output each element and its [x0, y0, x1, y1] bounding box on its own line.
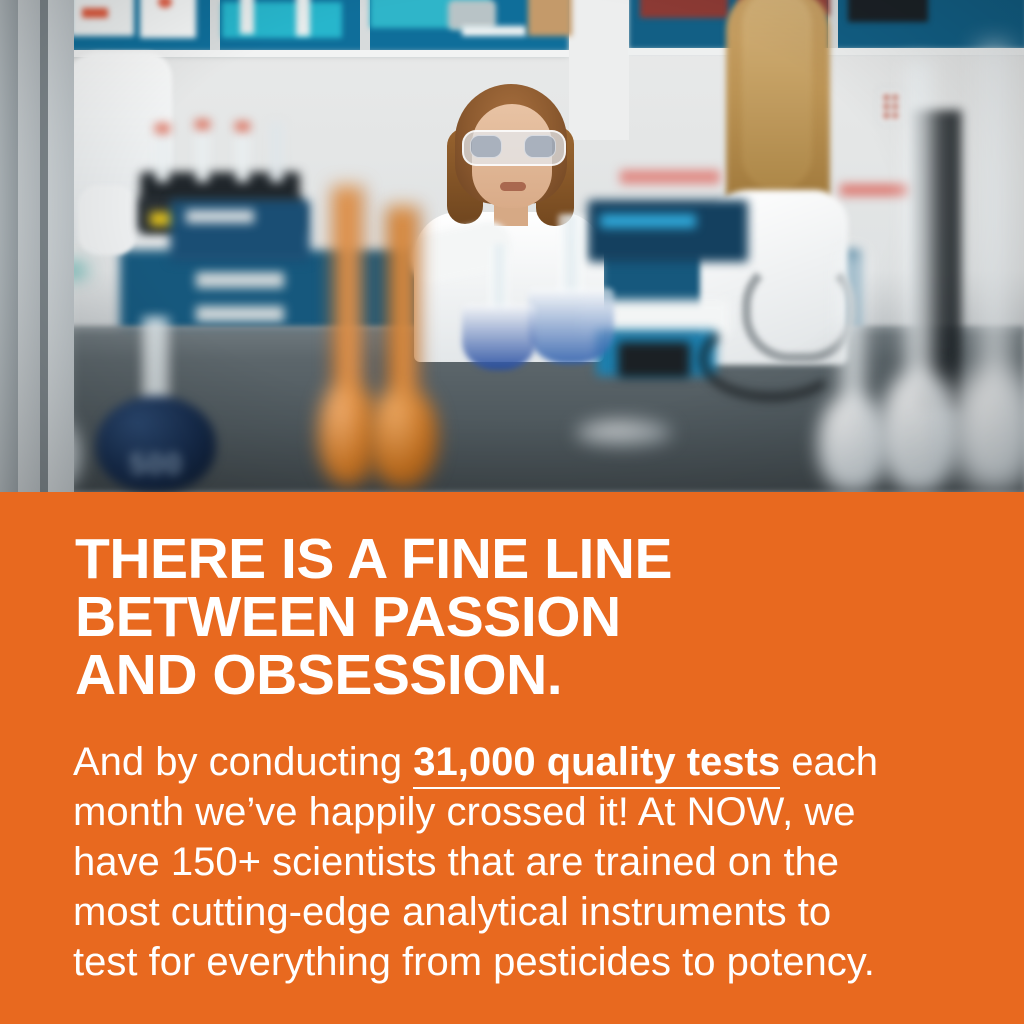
headline-line-3: AND OBSESSION.: [75, 646, 975, 704]
headline-line-1: THERE IS A FINE LINE: [75, 530, 975, 588]
quality-tests-emphasis: 31,000 quality tests: [413, 740, 780, 789]
body-copy: And by conducting 31,000 quality tests e…: [73, 737, 963, 987]
promotional-graphic: 500 THERE IS A FINE LINE BETWEEN PASSION…: [0, 0, 1024, 1024]
body-line-4: most cutting-edge analytical instruments…: [73, 887, 963, 937]
lab-photograph: 500: [0, 0, 1024, 492]
page-title: THERE IS A FINE LINE BETWEEN PASSION AND…: [75, 530, 975, 704]
headline-line-2: BETWEEN PASSION: [75, 588, 975, 646]
body-line-3: have 150+ scientists that are trained on…: [73, 837, 963, 887]
photo-vignette: [0, 0, 1024, 492]
body-line-5: test for everything from pesticides to p…: [73, 937, 963, 987]
body-line-1: And by conducting 31,000 quality tests e…: [73, 737, 963, 787]
body-line-2: month we’ve happily crossed it! At NOW, …: [73, 787, 963, 837]
body-line-1-pre: And by conducting: [73, 740, 413, 784]
body-line-1-post: each: [780, 740, 878, 784]
